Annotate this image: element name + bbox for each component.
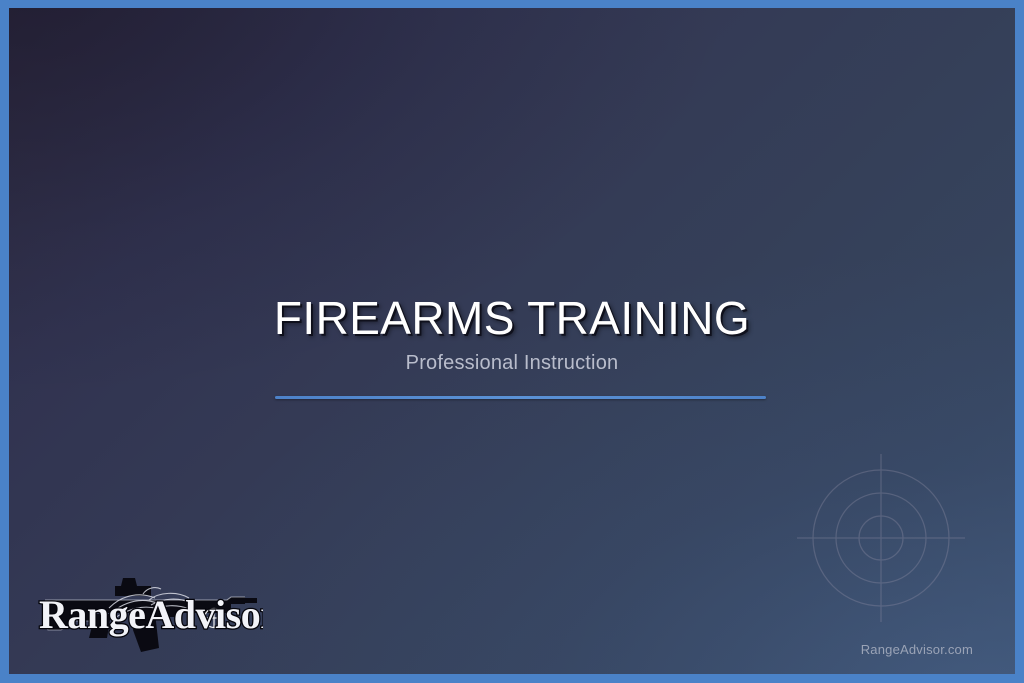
target-crosshair-icon [790, 447, 972, 629]
page-subtitle: Professional Instruction [9, 350, 1015, 376]
brand-logo[interactable]: RangeAdvisor [31, 564, 263, 656]
footer-website-url: RangeAdvisor.com [861, 642, 973, 657]
logo-wordmark: RangeAdvisor [39, 592, 263, 637]
slide-canvas: FIREARMS TRAINING Professional Instructi… [9, 8, 1015, 674]
title-block: FIREARMS TRAINING Professional Instructi… [9, 292, 1015, 376]
presentation-slide: FIREARMS TRAINING Professional Instructi… [0, 0, 1024, 683]
page-title: FIREARMS TRAINING [9, 292, 1015, 344]
accent-divider [275, 396, 766, 399]
